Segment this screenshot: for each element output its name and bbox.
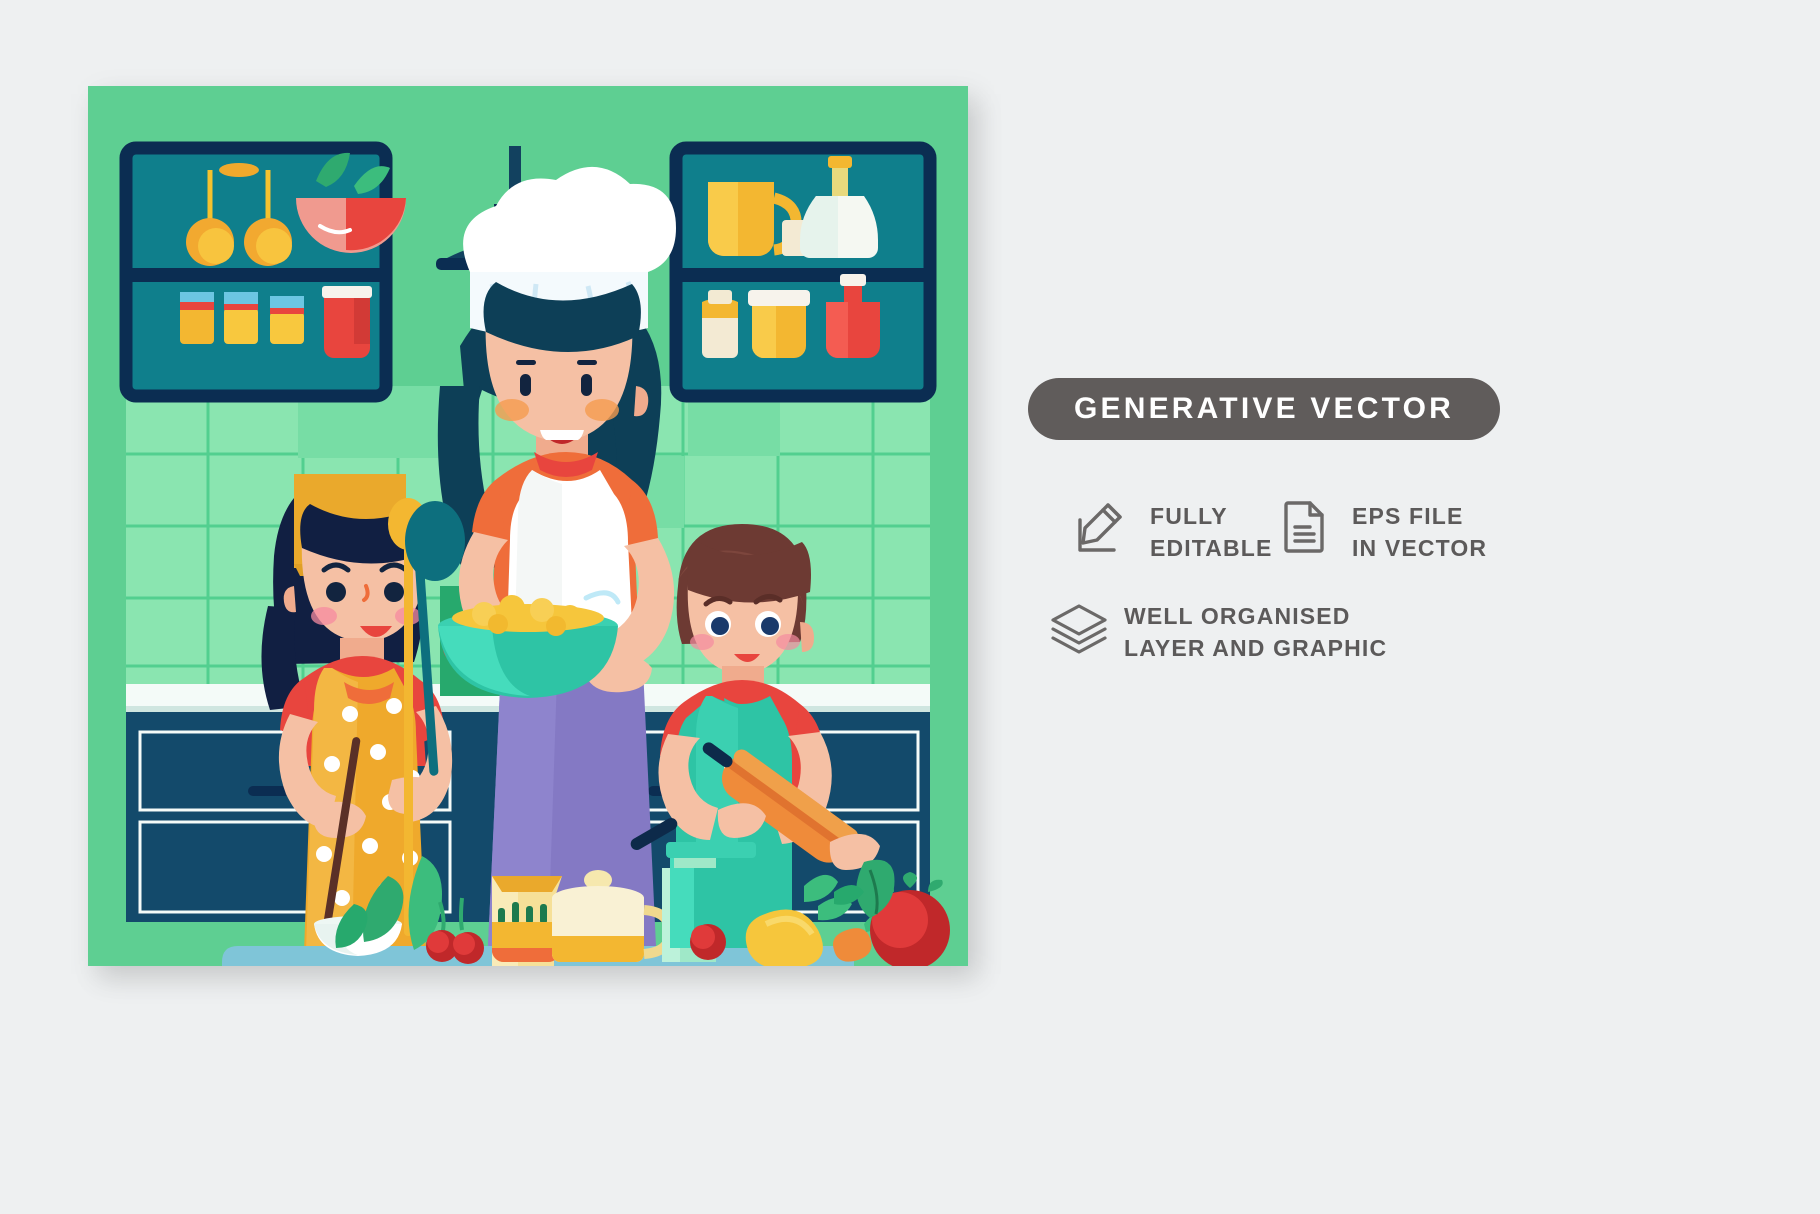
layers-stack-icon bbox=[1048, 598, 1104, 656]
shelf-right bbox=[676, 148, 930, 396]
feature-line-1: WELL ORGANISED bbox=[1124, 600, 1387, 632]
feature-eps-file-text: EPS FILE IN VECTOR bbox=[1352, 498, 1487, 564]
page-root: GENERATIVE VECTOR FULLY EDITABLE bbox=[0, 0, 1820, 1214]
feature-fully-editable: FULLY EDITABLE bbox=[1074, 498, 1273, 564]
feature-line-1: FULLY bbox=[1150, 500, 1273, 532]
feature-line-2: IN VECTOR bbox=[1352, 532, 1487, 564]
feature-line-1: EPS FILE bbox=[1352, 500, 1487, 532]
boy-eye-right bbox=[761, 617, 779, 635]
feature-line-2: EDITABLE bbox=[1150, 532, 1273, 564]
kitchen-illustration bbox=[88, 86, 968, 966]
generative-vector-banner: GENERATIVE VECTOR bbox=[1028, 378, 1500, 440]
spatula-handle bbox=[404, 536, 413, 936]
girl-eye-left bbox=[326, 582, 346, 602]
banner-label: GENERATIVE VECTOR bbox=[1074, 392, 1454, 426]
mother-eye-right bbox=[581, 374, 592, 396]
feature-well-organised: WELL ORGANISED LAYER AND GRAPHIC bbox=[1048, 598, 1387, 664]
document-file-icon bbox=[1276, 498, 1332, 556]
feature-line-2: LAYER AND GRAPHIC bbox=[1124, 632, 1387, 664]
feature-eps-file: EPS FILE IN VECTOR bbox=[1276, 498, 1487, 564]
feature-well-organised-text: WELL ORGANISED LAYER AND GRAPHIC bbox=[1124, 598, 1387, 664]
girl-eye-right bbox=[384, 582, 404, 602]
info-panel: GENERATIVE VECTOR FULLY EDITABLE bbox=[1020, 360, 1760, 780]
feature-fully-editable-text: FULLY EDITABLE bbox=[1150, 498, 1273, 564]
tomato-small bbox=[690, 924, 726, 960]
pencil-edit-icon bbox=[1074, 498, 1130, 556]
mother-eye-left bbox=[520, 374, 531, 396]
shelf-left bbox=[126, 148, 406, 396]
boy-eye-left bbox=[711, 617, 729, 635]
illustration-card bbox=[88, 86, 968, 966]
